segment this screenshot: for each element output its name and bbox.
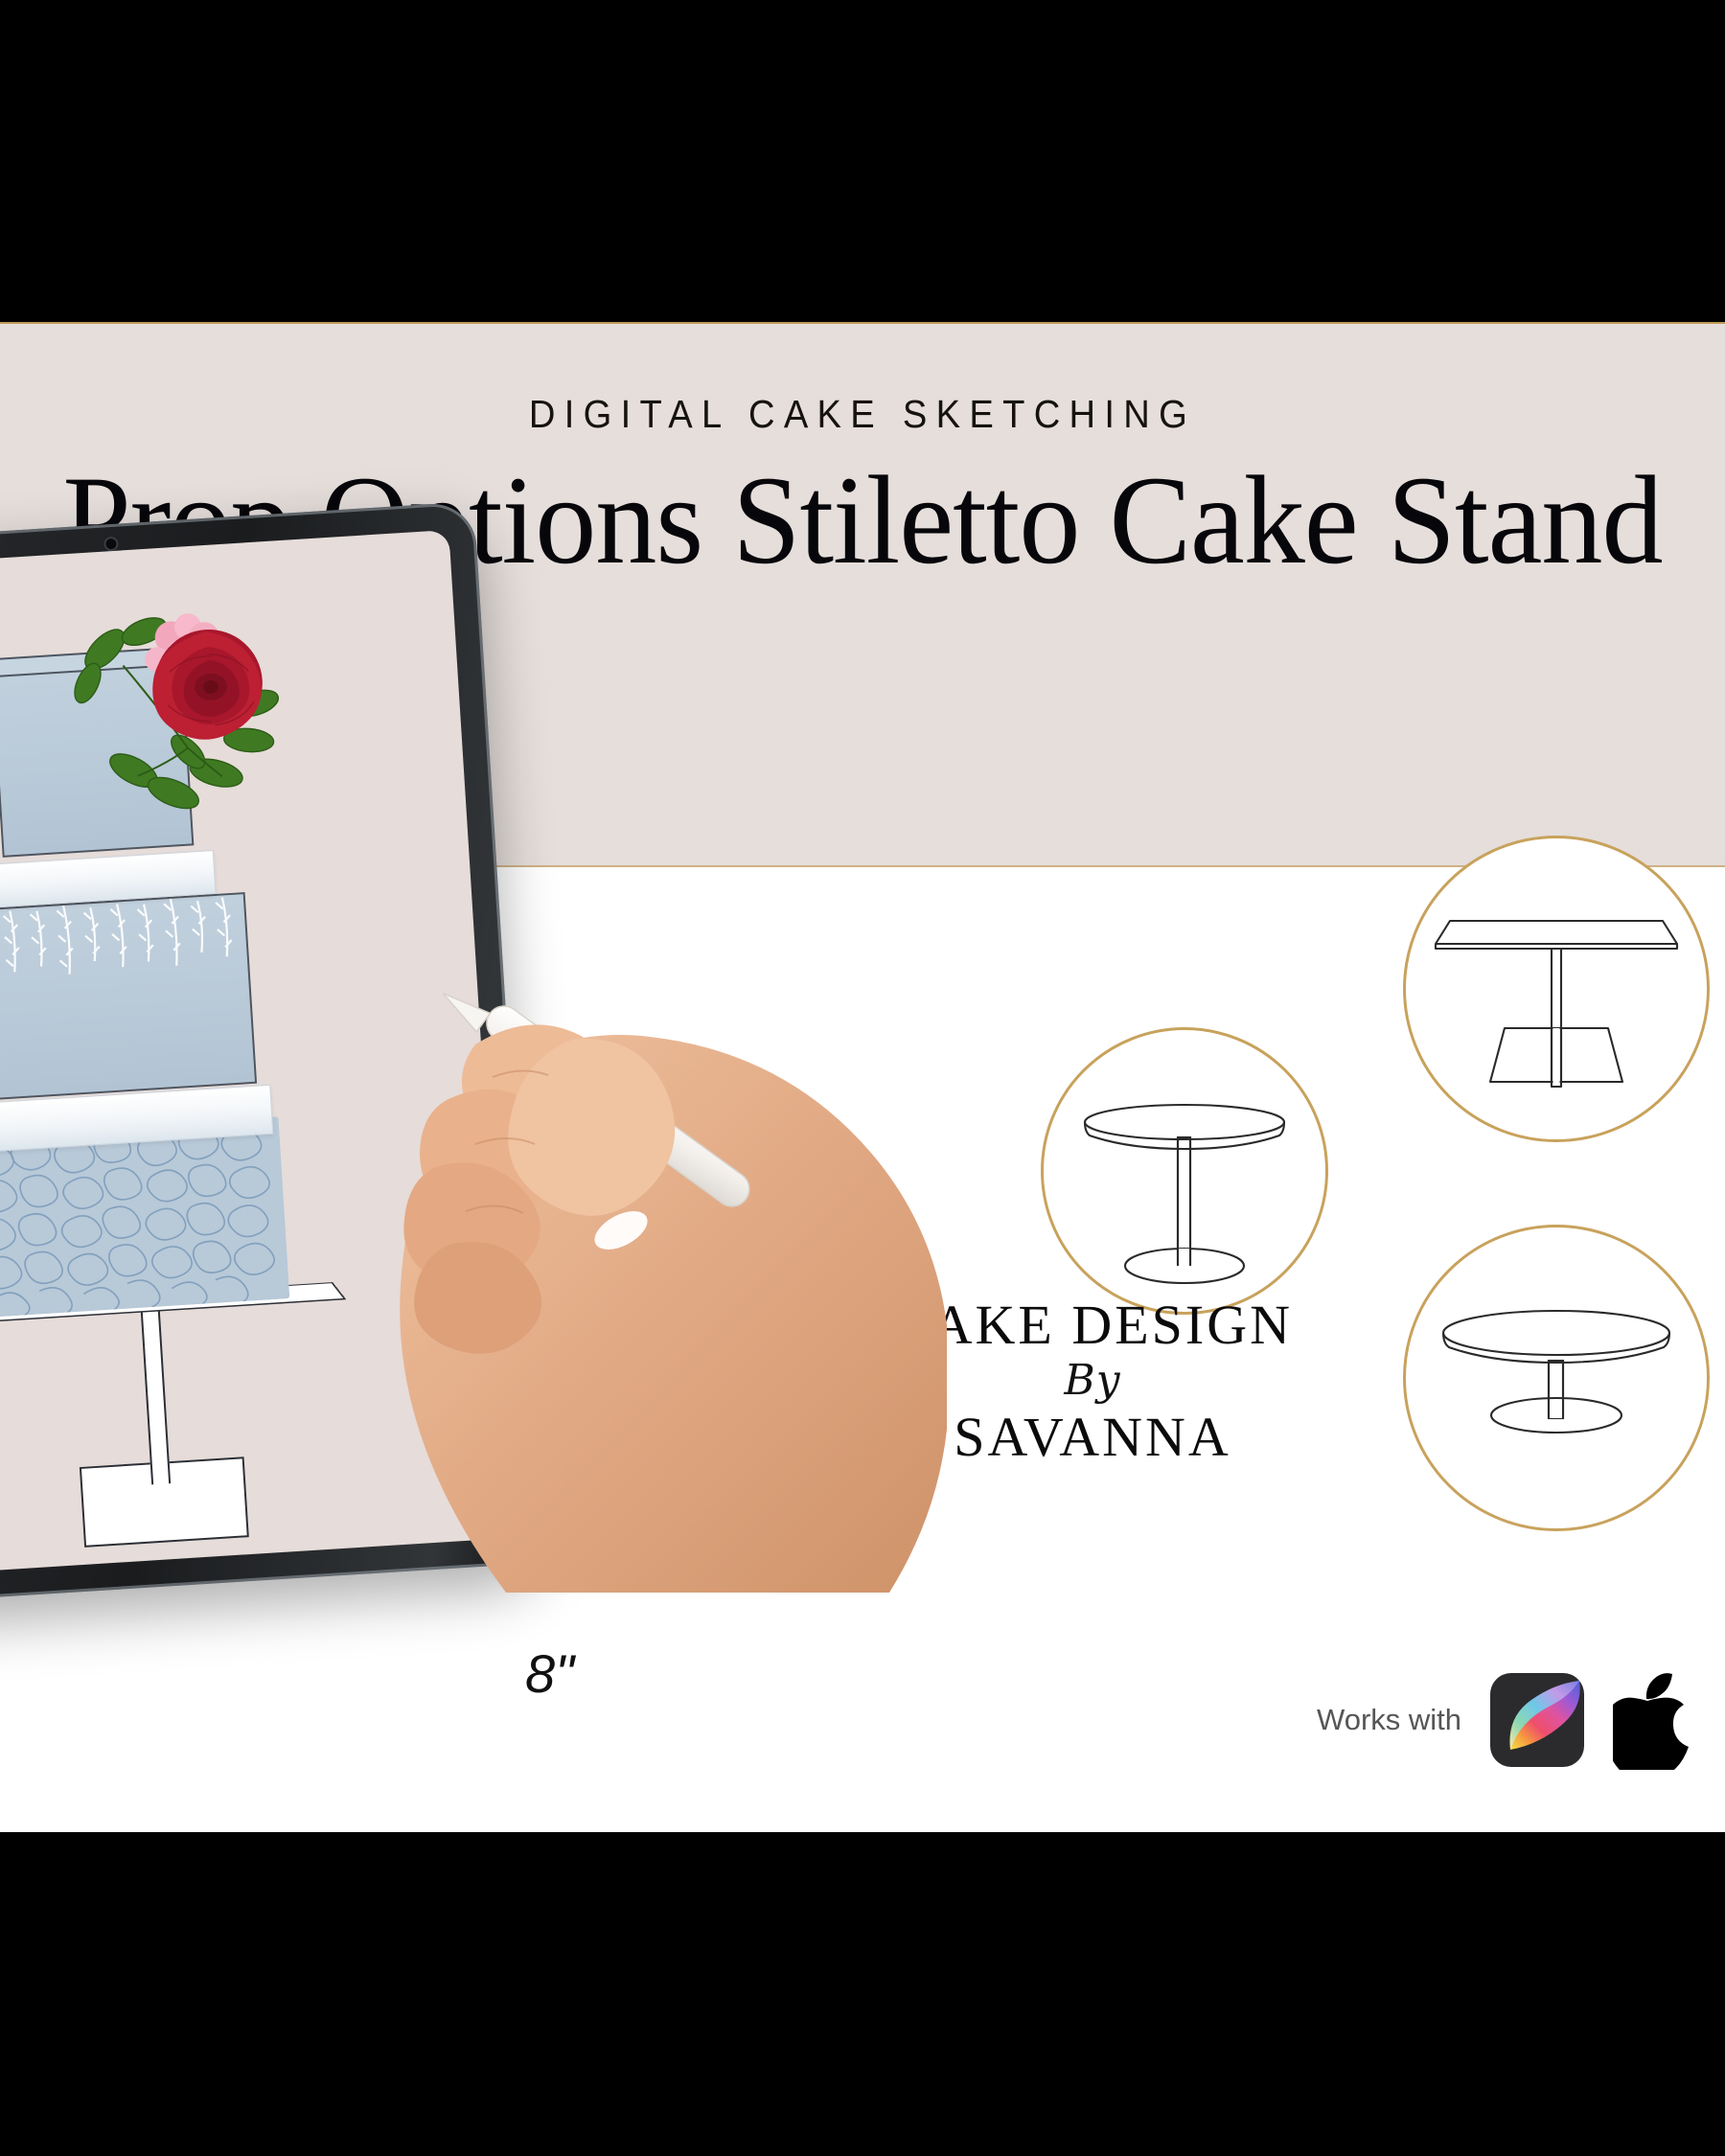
floral-arrangement <box>62 596 328 880</box>
listing-canvas: DIGITAL CAKE SKETCHING Prop Options Stil… <box>0 322 1725 1832</box>
prop-circle-round-stand[interactable] <box>1041 1027 1328 1315</box>
measurement-label-bottom-tier: 8" <box>525 1642 574 1705</box>
procreate-icon[interactable] <box>1490 1673 1584 1767</box>
square-cake-stand-icon <box>1406 838 1707 1139</box>
hand-with-stylus <box>218 874 947 1602</box>
round-cake-stand-icon <box>1044 1030 1325 1312</box>
round-wide-cake-stand-icon <box>1406 1227 1707 1528</box>
works-with-label: Works with <box>1317 1703 1461 1737</box>
apple-logo-icon[interactable] <box>1613 1670 1701 1770</box>
letterbox-top <box>0 0 1725 322</box>
prop-circle-square-stand[interactable] <box>1403 836 1710 1142</box>
cake-stand-post <box>141 1306 172 1484</box>
compatibility-row: Works with <box>1317 1667 1725 1773</box>
front-camera-icon <box>103 537 119 552</box>
eyebrow-text: DIGITAL CAKE SKETCHING <box>60 392 1665 437</box>
prop-circle-round-wide-stand[interactable] <box>1403 1225 1710 1531</box>
listing-image: DIGITAL CAKE SKETCHING Prop Options Stil… <box>0 0 1725 2156</box>
letterbox-bottom <box>0 1832 1725 2156</box>
